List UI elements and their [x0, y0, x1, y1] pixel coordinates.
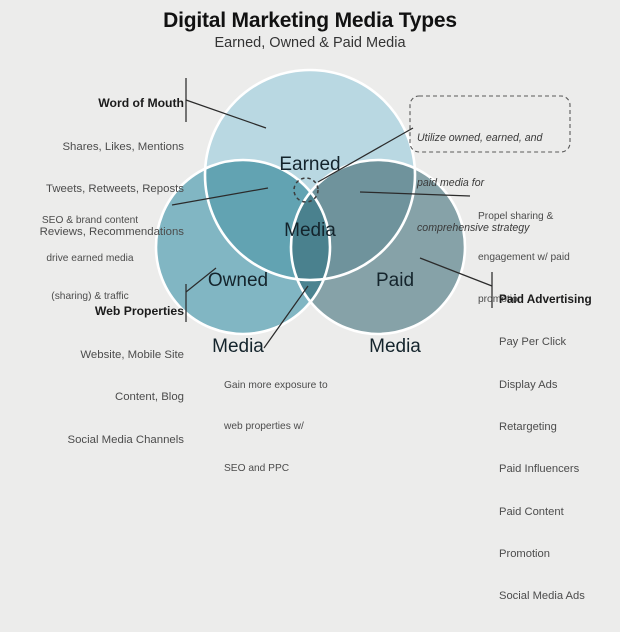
callout-paid-advertising: Paid Advertising Pay Per Click Display A… [499, 264, 617, 632]
callout-paid-advertising-line-7: Social Media Ads [499, 589, 617, 603]
callout-paid-advertising-line-3: Retargeting [499, 420, 617, 434]
callout-paid-advertising-line-1: Pay Per Click [499, 335, 617, 349]
callout-paid-advertising-line-6: Promotion [499, 547, 617, 561]
callout-gain-exposure-line-2: web properties w/ [224, 420, 374, 434]
callout-gain-exposure-line-1: Gain more exposure to [224, 379, 374, 393]
infographic-canvas: Digital Marketing Media Types Earned, Ow… [0, 0, 620, 400]
callout-paid-advertising-line-4: Paid Influencers [499, 462, 617, 476]
callout-utilize-line-1: Utilize owned, earned, and [417, 131, 563, 146]
callout-gain-exposure-line-3: SEO and PPC [224, 462, 374, 476]
callout-paid-advertising-line-2: Display Ads [499, 378, 617, 392]
callout-propel-line-1: Propel sharing & [478, 210, 606, 224]
callout-web-properties-line-3: Social Media Channels [6, 433, 184, 447]
callout-paid-advertising-line-5: Paid Content [499, 505, 617, 519]
callout-paid-advertising-heading: Paid Advertising [499, 292, 617, 307]
callout-gain-exposure: Gain more exposure to web properties w/ … [224, 351, 374, 504]
